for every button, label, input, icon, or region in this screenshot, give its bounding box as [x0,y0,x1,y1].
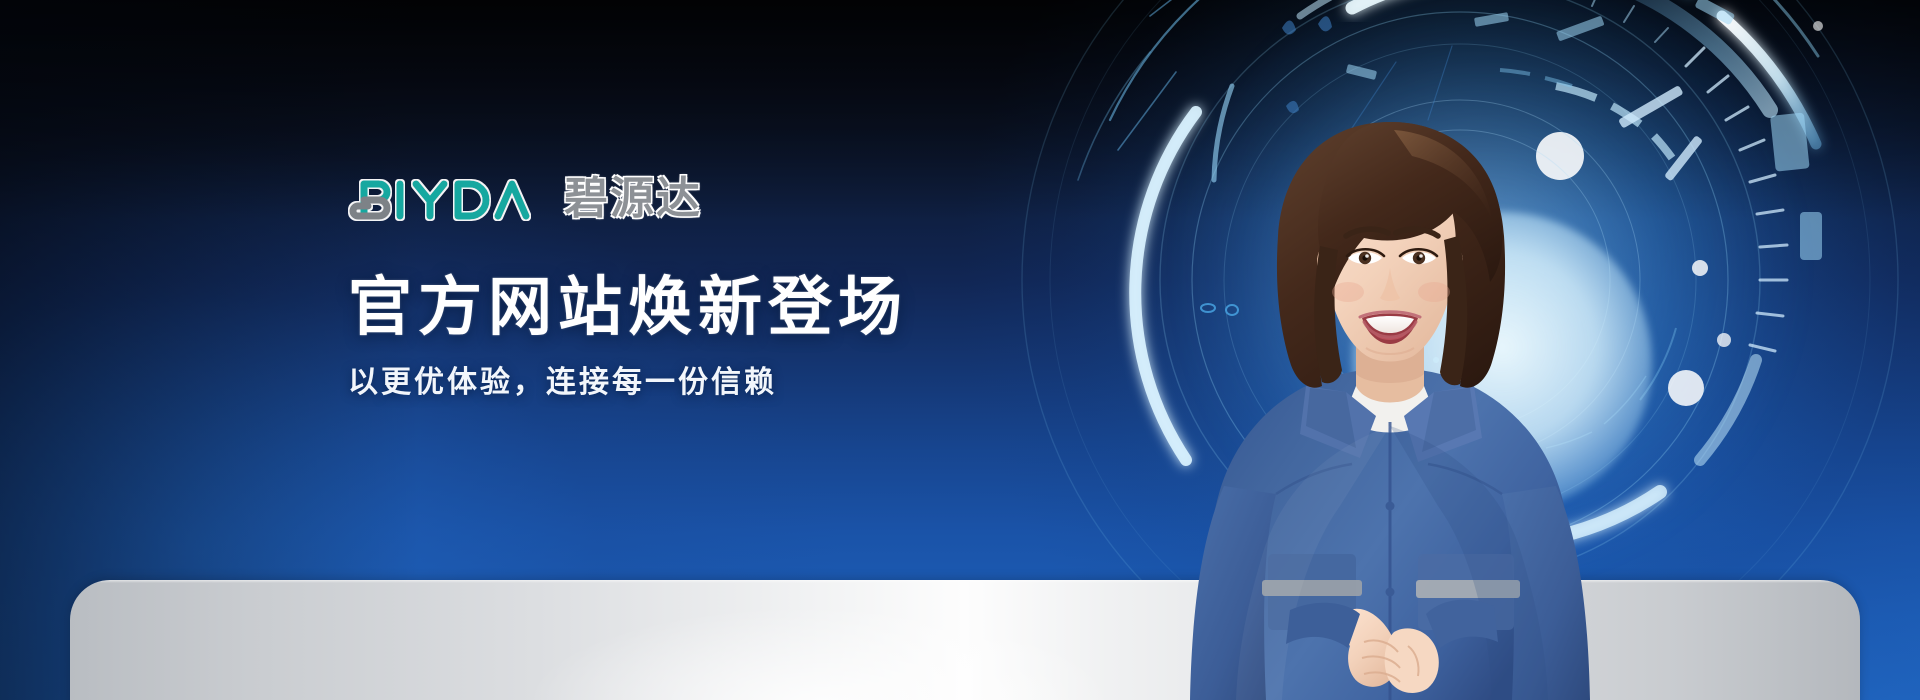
hero-content: 碧源达 官方网站焕新登场 以更优体验，连接每一份信赖 [348,172,1108,401]
hero-banner: 碧源达 官方网站焕新登场 以更优体验，连接每一份信赖 [0,0,1920,700]
head-glow-halo [1352,212,1652,512]
page-title: 官方网站焕新登场 [348,274,1108,343]
silver-foreground-panel [70,580,1860,700]
brand-chinese-name: 碧源达 [564,177,702,223]
panel-sheen [70,580,1860,700]
brand-logo[interactable]: 碧源达 [348,172,1108,228]
page-subtitle: 以更优体验，连接每一份信赖 [348,365,1108,401]
biyda-logo-icon [348,174,548,226]
